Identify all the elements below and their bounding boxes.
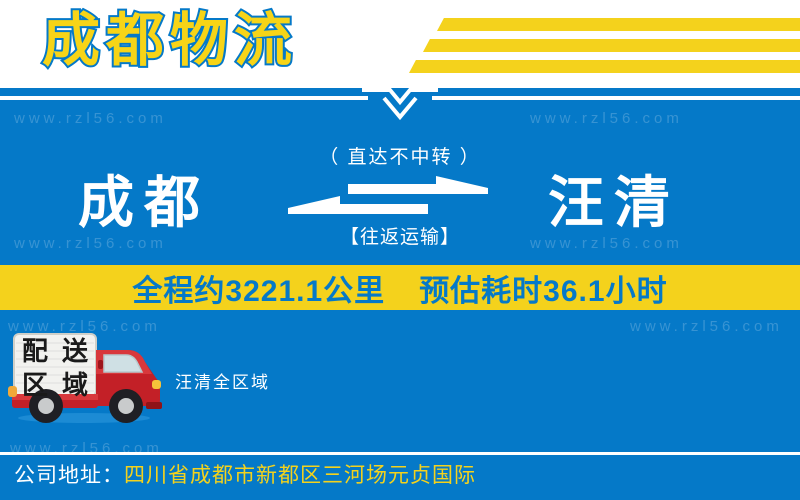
total-distance: 全程约3221.1公里 — [132, 266, 385, 310]
truck-box-char: 域 — [62, 372, 88, 398]
destination-city: 汪清 — [548, 168, 680, 238]
truck-box-char: 区 — [22, 372, 48, 398]
metrics-band: 全程约3221.1公里 预估耗时36.1小时 — [0, 265, 800, 310]
roundtrip-note: 【往返运输】 — [290, 222, 510, 249]
origin-city: 成都 — [78, 168, 210, 238]
header-divider-left — [0, 96, 368, 100]
truck-box-char: 配 — [22, 338, 48, 364]
watermark: www.rzl56.com — [14, 110, 167, 127]
stripe-2 — [423, 39, 800, 52]
direct-shipping-note: （ 直达不中转 ） — [290, 142, 510, 169]
header-stripes-decoration — [395, 0, 800, 88]
company-address-value: 四川省成都市新都区三河场元贞国际 — [124, 464, 476, 487]
watermark: www.rzl56.com — [630, 318, 783, 335]
poster-header: 成都物流 — [0, 0, 800, 88]
estimated-duration: 预估耗时36.1小时 — [419, 266, 667, 310]
logistics-poster: 成都物流 www.rzl56.com www.rzl56.com www.rzl… — [0, 0, 800, 500]
company-address-label: 公司地址： — [14, 464, 124, 487]
watermark: www.rzl56.com — [530, 110, 683, 127]
company-address-line: 公司地址：四川省成都市新都区三河场元贞国际 — [14, 462, 476, 490]
bidirectional-arrow-icon — [288, 176, 488, 218]
double-chevron-down-icon — [362, 88, 438, 122]
coverage-area-label: 汪清全区域 — [175, 368, 270, 393]
brand-title: 成都物流 — [42, 2, 298, 80]
truck-box-char: 送 — [62, 338, 88, 364]
stripe-1 — [437, 18, 800, 31]
stripe-3 — [409, 60, 800, 73]
header-divider-right — [432, 96, 800, 100]
